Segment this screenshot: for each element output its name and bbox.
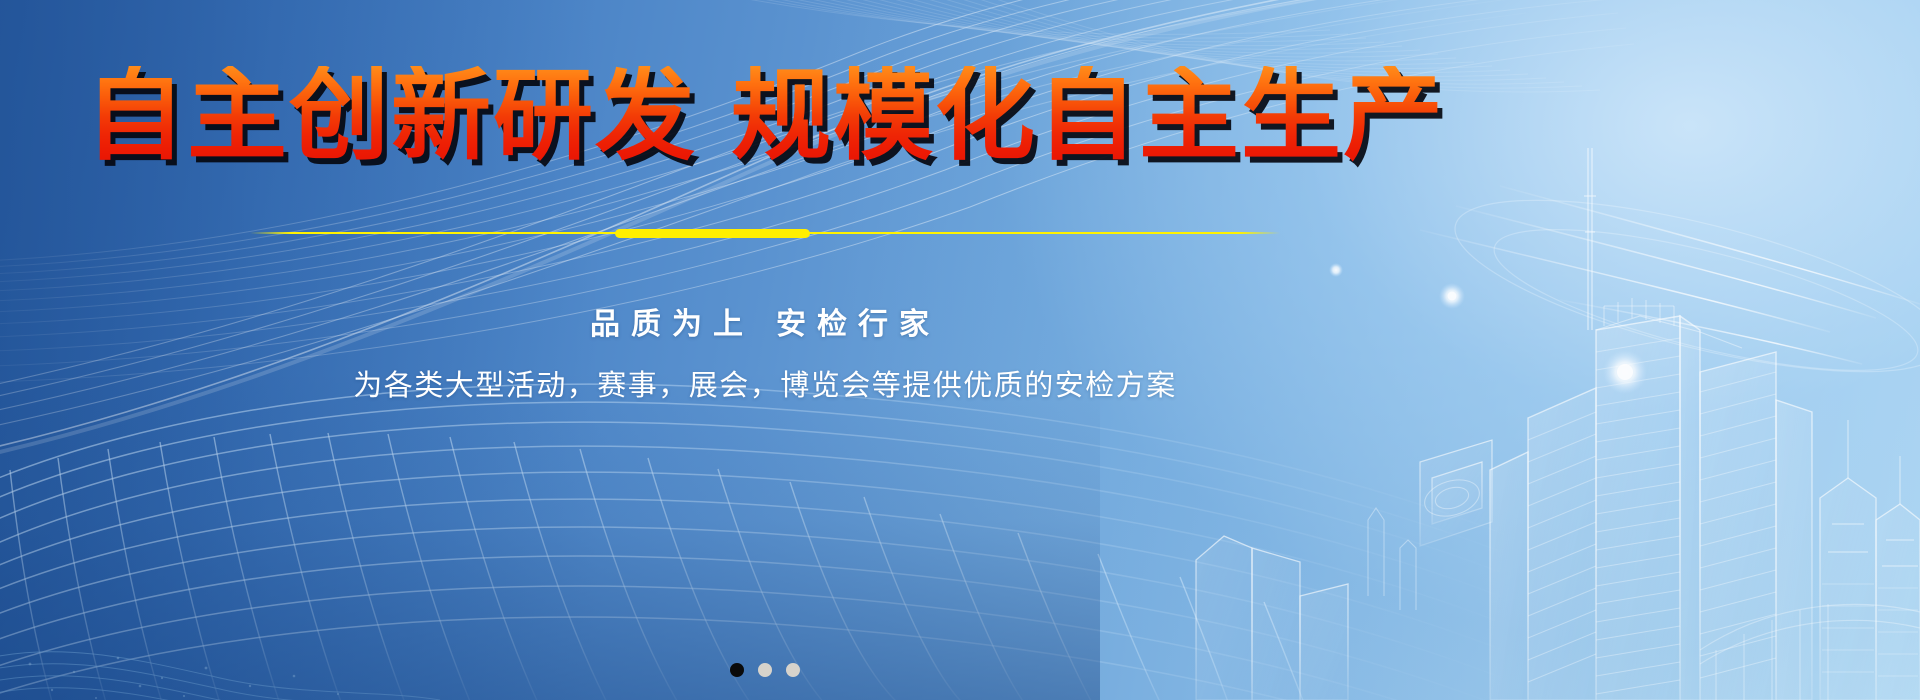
banner-subtitle-block: 品质为上安检行家 为各类大型活动，赛事，展会，博览会等提供优质的安检方案: [0, 305, 1530, 405]
headline-part-2: 规模化自主生产: [731, 57, 1445, 174]
banner-headline: 自主创新研发规模化自主生产: [0, 66, 1530, 166]
carousel-dot-2[interactable]: [758, 663, 772, 677]
divider-center-bar: [615, 229, 810, 238]
carousel-dot-3[interactable]: [786, 663, 800, 677]
yellow-divider: [250, 228, 1280, 238]
slogan-phrase-1: 品质为上: [590, 307, 754, 342]
headline-part-1: 自主创新研发: [85, 57, 697, 174]
banner-description: 为各类大型活动，赛事，展会，博览会等提供优质的安检方案: [0, 366, 1530, 405]
hero-banner: 自主创新研发规模化自主生产 品质为上安检行家 为各类大型活动，赛事，展会，博览会…: [0, 0, 1920, 700]
slogan-phrase-2: 安检行家: [776, 307, 940, 342]
carousel-dot-1[interactable]: [730, 663, 744, 677]
carousel-dots[interactable]: [0, 663, 1530, 677]
banner-slogan: 品质为上安检行家: [0, 305, 1530, 346]
banner-content: 自主创新研发规模化自主生产 品质为上安检行家 为各类大型活动，赛事，展会，博览会…: [0, 0, 1920, 700]
